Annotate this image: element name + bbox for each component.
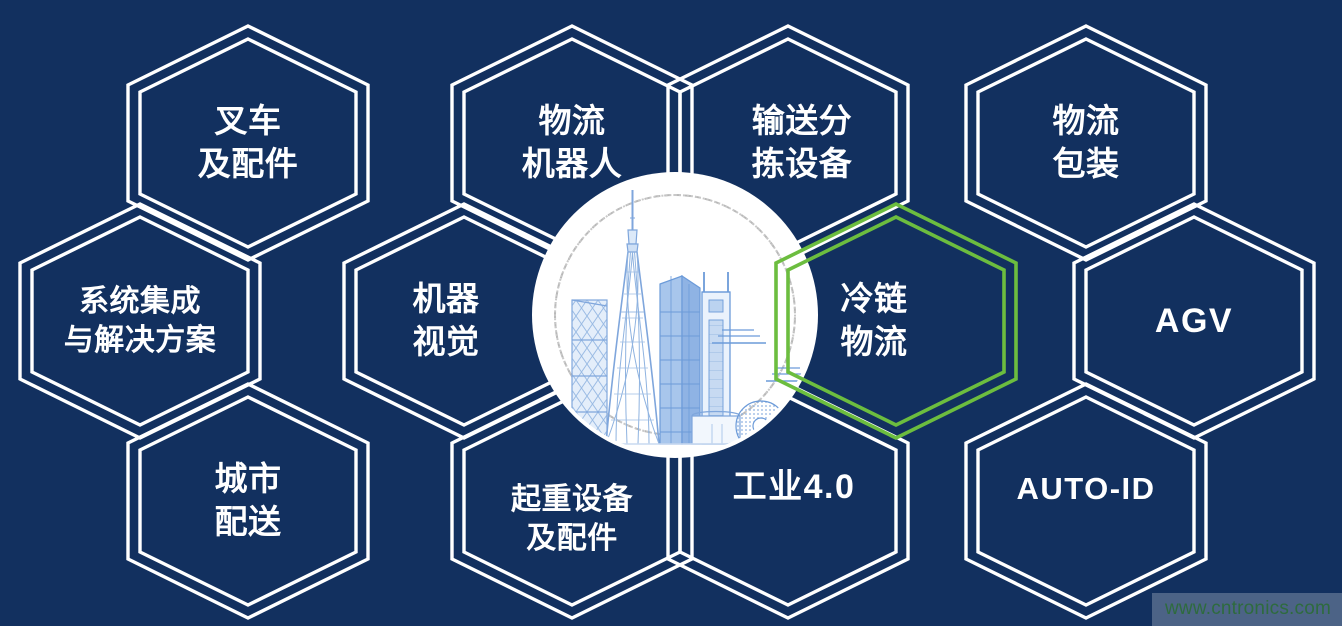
hexagon-label: 冷链 物流 <box>841 278 908 364</box>
hexagon-label: 起重设备 及配件 <box>511 480 633 558</box>
hexagon-label: AGV <box>1155 299 1233 343</box>
hexagon-city-delivery[interactable]: 城市 配送 <box>124 380 372 622</box>
building-ifc <box>572 300 607 444</box>
hexagon-label: 物流 包装 <box>1053 100 1120 186</box>
watermark-text: www.cntronics.com <box>1165 598 1331 619</box>
hexagon-label: 机器 视觉 <box>413 278 480 364</box>
hexagon-label: 城市 配送 <box>215 458 282 544</box>
building-canton-tower <box>606 190 659 444</box>
hexagon-label: AUTO-ID <box>1016 469 1155 509</box>
hexagon-cold-chain[interactable]: 冷链 物流 <box>772 200 1020 442</box>
hexagon-label: 工业4.0 <box>733 465 856 509</box>
hexagon-label: 系统集成 与解决方案 <box>64 282 217 360</box>
infographic-canvas: 叉车 及配件 系统集成 与解决方案 城市 配送 物流 机器人 机器 视觉 <box>0 0 1342 626</box>
watermark: www.cntronics.com <box>1152 593 1342 626</box>
hexagon-label: 叉车 及配件 <box>198 100 299 186</box>
